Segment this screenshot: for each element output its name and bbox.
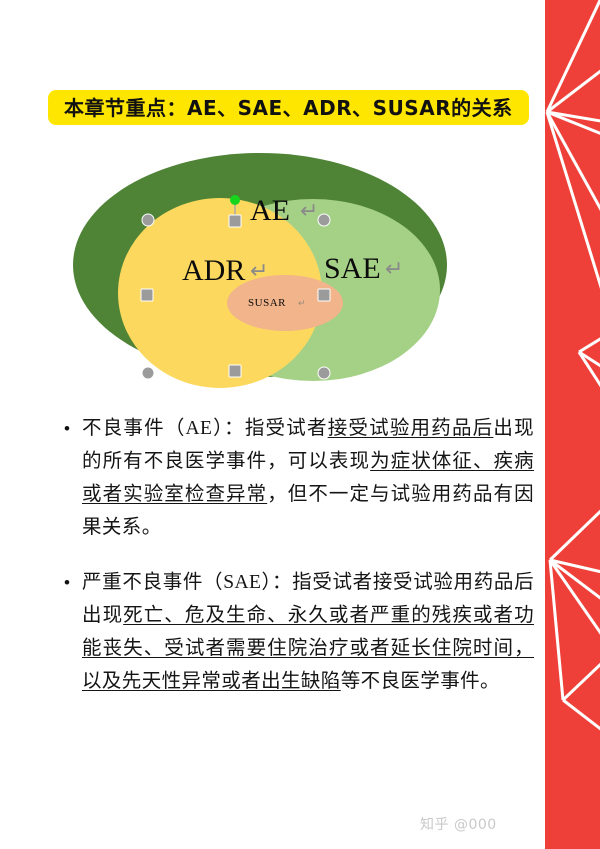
sae-pilcrow-icon: ↵ <box>385 256 403 281</box>
resize-handle-left[interactable] <box>141 289 153 301</box>
susar-pilcrow-icon: ↵ <box>298 298 306 308</box>
rotate-handle[interactable] <box>230 195 240 205</box>
text-segment: 不良事件（AE）：指受试者 <box>82 418 328 439</box>
list-item: • 严重不良事件（SAE）：指受试者接受试验用药品后出现死亡、危及生命、永久或者… <box>64 566 534 698</box>
venn-diagram-canvas[interactable]: AE ↵ ADR ↵ SAE ↵ SUSAR ↵ <box>60 148 460 398</box>
susar-label: SUSAR <box>248 297 286 309</box>
adr-pilcrow-icon: ↵ <box>250 258 268 283</box>
venn-diagram[interactable]: AE ↵ ADR ↵ SAE ↵ SUSAR ↵ <box>60 148 460 398</box>
decorative-sidebar <box>545 0 600 849</box>
bullet-marker: • <box>64 412 82 544</box>
watermark: 知乎 @000阿媛 <box>420 814 526 834</box>
resize-handle-bottom[interactable] <box>229 365 241 377</box>
resize-handle-top[interactable] <box>229 215 241 227</box>
text-segment: 等不良医学事件。 <box>341 671 500 692</box>
ae-pilcrow-icon: ↵ <box>300 198 318 223</box>
resize-handle-top-right[interactable] <box>318 214 330 226</box>
ae-definition-text: 不良事件（AE）：指受试者接受试验用药品后出现的所有不良医学事件，可以表现为症状… <box>82 412 534 544</box>
resize-handle-right[interactable] <box>318 289 330 301</box>
text-segment-underlined: 接受试验用药品后 <box>328 418 494 439</box>
resize-handle-bottom-left[interactable] <box>142 367 154 379</box>
adr-label: ADR <box>182 254 245 287</box>
definition-list: • 不良事件（AE）：指受试者接受试验用药品后出现的所有不良医学事件，可以表现为… <box>64 412 534 720</box>
list-item: • 不良事件（AE）：指受试者接受试验用药品后出现的所有不良医学事件，可以表现为… <box>64 412 534 544</box>
watermark-suffix: 阿媛 <box>497 817 526 833</box>
slide-page: 本章节重点：AE、SAE、ADR、SUSAR的关系 AE ↵ ADR ↵ SAE… <box>0 0 600 849</box>
bullet-marker: • <box>64 566 82 698</box>
sidebar-pattern <box>545 0 600 849</box>
resize-handle-bottom-right[interactable] <box>318 367 330 379</box>
resize-handle-top-left[interactable] <box>142 214 154 226</box>
section-title-banner: 本章节重点：AE、SAE、ADR、SUSAR的关系 <box>48 90 529 125</box>
page-title: 本章节重点：AE、SAE、ADR、SUSAR的关系 <box>64 98 513 118</box>
sae-label: SAE <box>324 252 381 285</box>
sae-definition-text: 严重不良事件（SAE）：指受试者接受试验用药品后出现死亡、危及生命、永久或者严重… <box>82 566 534 698</box>
watermark-prefix: 知乎 @000 <box>420 817 497 833</box>
ae-label: AE <box>250 194 290 227</box>
